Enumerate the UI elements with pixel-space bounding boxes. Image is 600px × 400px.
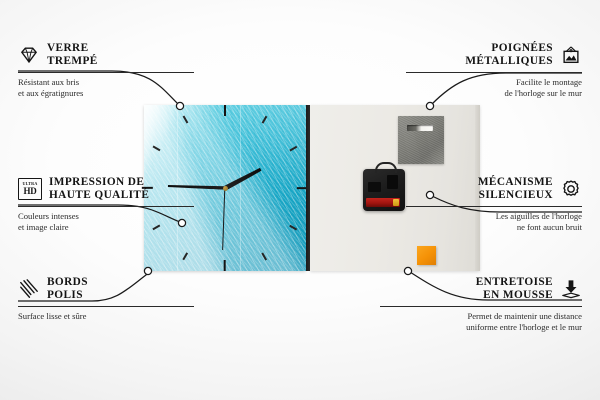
ultra-hd-icon: ultra HD (18, 178, 42, 200)
hanger-keyhole-slot (407, 125, 433, 131)
callout-title-row: POIGNÉES MÉTALLIQUES (406, 42, 582, 68)
callout-subtitle: Résistant aux bris et aux égratignures (18, 77, 194, 99)
callout-divider (18, 306, 194, 307)
metal-hanger-plate (398, 116, 444, 164)
foam-spacer-block (417, 246, 436, 265)
callout-subtitle: Permet de maintenir une distance uniform… (380, 311, 582, 333)
mechanism-hanging-loop (375, 162, 397, 173)
callout-title-row: VERRE TREMPÉ (18, 42, 194, 68)
callout-entretoise-en-mousse: ENTRETOISE EN MOUSSE Permet de maintenir… (380, 276, 582, 333)
callout-title-row: ultra HD IMPRESSION DE HAUTE QUALITÉ (18, 176, 194, 202)
clock-movement-mechanism (363, 169, 405, 211)
callout-verre-trempe: VERRE TREMPÉ Résistant aux bris et aux é… (18, 42, 194, 99)
callout-poignees-metalliques: POIGNÉES MÉTALLIQUES Facilite le montage… (406, 42, 582, 99)
callout-subtitle: Surface lisse et sûre (18, 311, 194, 322)
callout-mecanisme-silencieux: MÉCANISME SILENCIEUX Les aiguilles de l'… (406, 176, 582, 233)
callout-divider (406, 206, 582, 207)
callout-bords-polis: BORDS POLIS Surface lisse et sûre (18, 276, 194, 322)
callout-title-row: BORDS POLIS (18, 276, 194, 302)
polished-edges-icon (18, 278, 40, 300)
clock-center-cap (223, 186, 228, 191)
ultra-hd-icon-main-text: HD (23, 187, 36, 196)
callout-subtitle: Les aiguilles de l'horloge ne font aucun… (406, 211, 582, 233)
callout-title: ENTRETOISE EN MOUSSE (476, 276, 553, 302)
callout-impression-haute-qualite: ultra HD IMPRESSION DE HAUTE QUALITÉ Cou… (18, 176, 194, 233)
battery (366, 198, 400, 207)
callout-divider (406, 72, 582, 73)
callout-title: IMPRESSION DE HAUTE QUALITÉ (49, 176, 149, 202)
callout-title: MÉCANISME SILENCIEUX (478, 176, 553, 202)
wall-mount-frame-icon (560, 44, 582, 66)
diamond-icon (18, 44, 40, 66)
gear-icon (560, 178, 582, 200)
foam-spacer-arrow-icon (560, 278, 582, 300)
callout-divider (380, 306, 582, 307)
callout-title: BORDS POLIS (47, 276, 88, 302)
callout-title-row: MÉCANISME SILENCIEUX (406, 176, 582, 202)
callout-subtitle: Couleurs intenses et image claire (18, 211, 194, 233)
callout-subtitle: Facilite le montage de l'horloge sur le … (406, 77, 582, 99)
callout-title-row: ENTRETOISE EN MOUSSE (380, 276, 582, 302)
infographic-canvas: VERRE TREMPÉ Résistant aux bris et aux é… (0, 0, 600, 400)
callout-title: VERRE TREMPÉ (47, 42, 98, 68)
callout-divider (18, 72, 194, 73)
callout-divider (18, 206, 194, 207)
callout-title: POIGNÉES MÉTALLIQUES (465, 42, 553, 68)
